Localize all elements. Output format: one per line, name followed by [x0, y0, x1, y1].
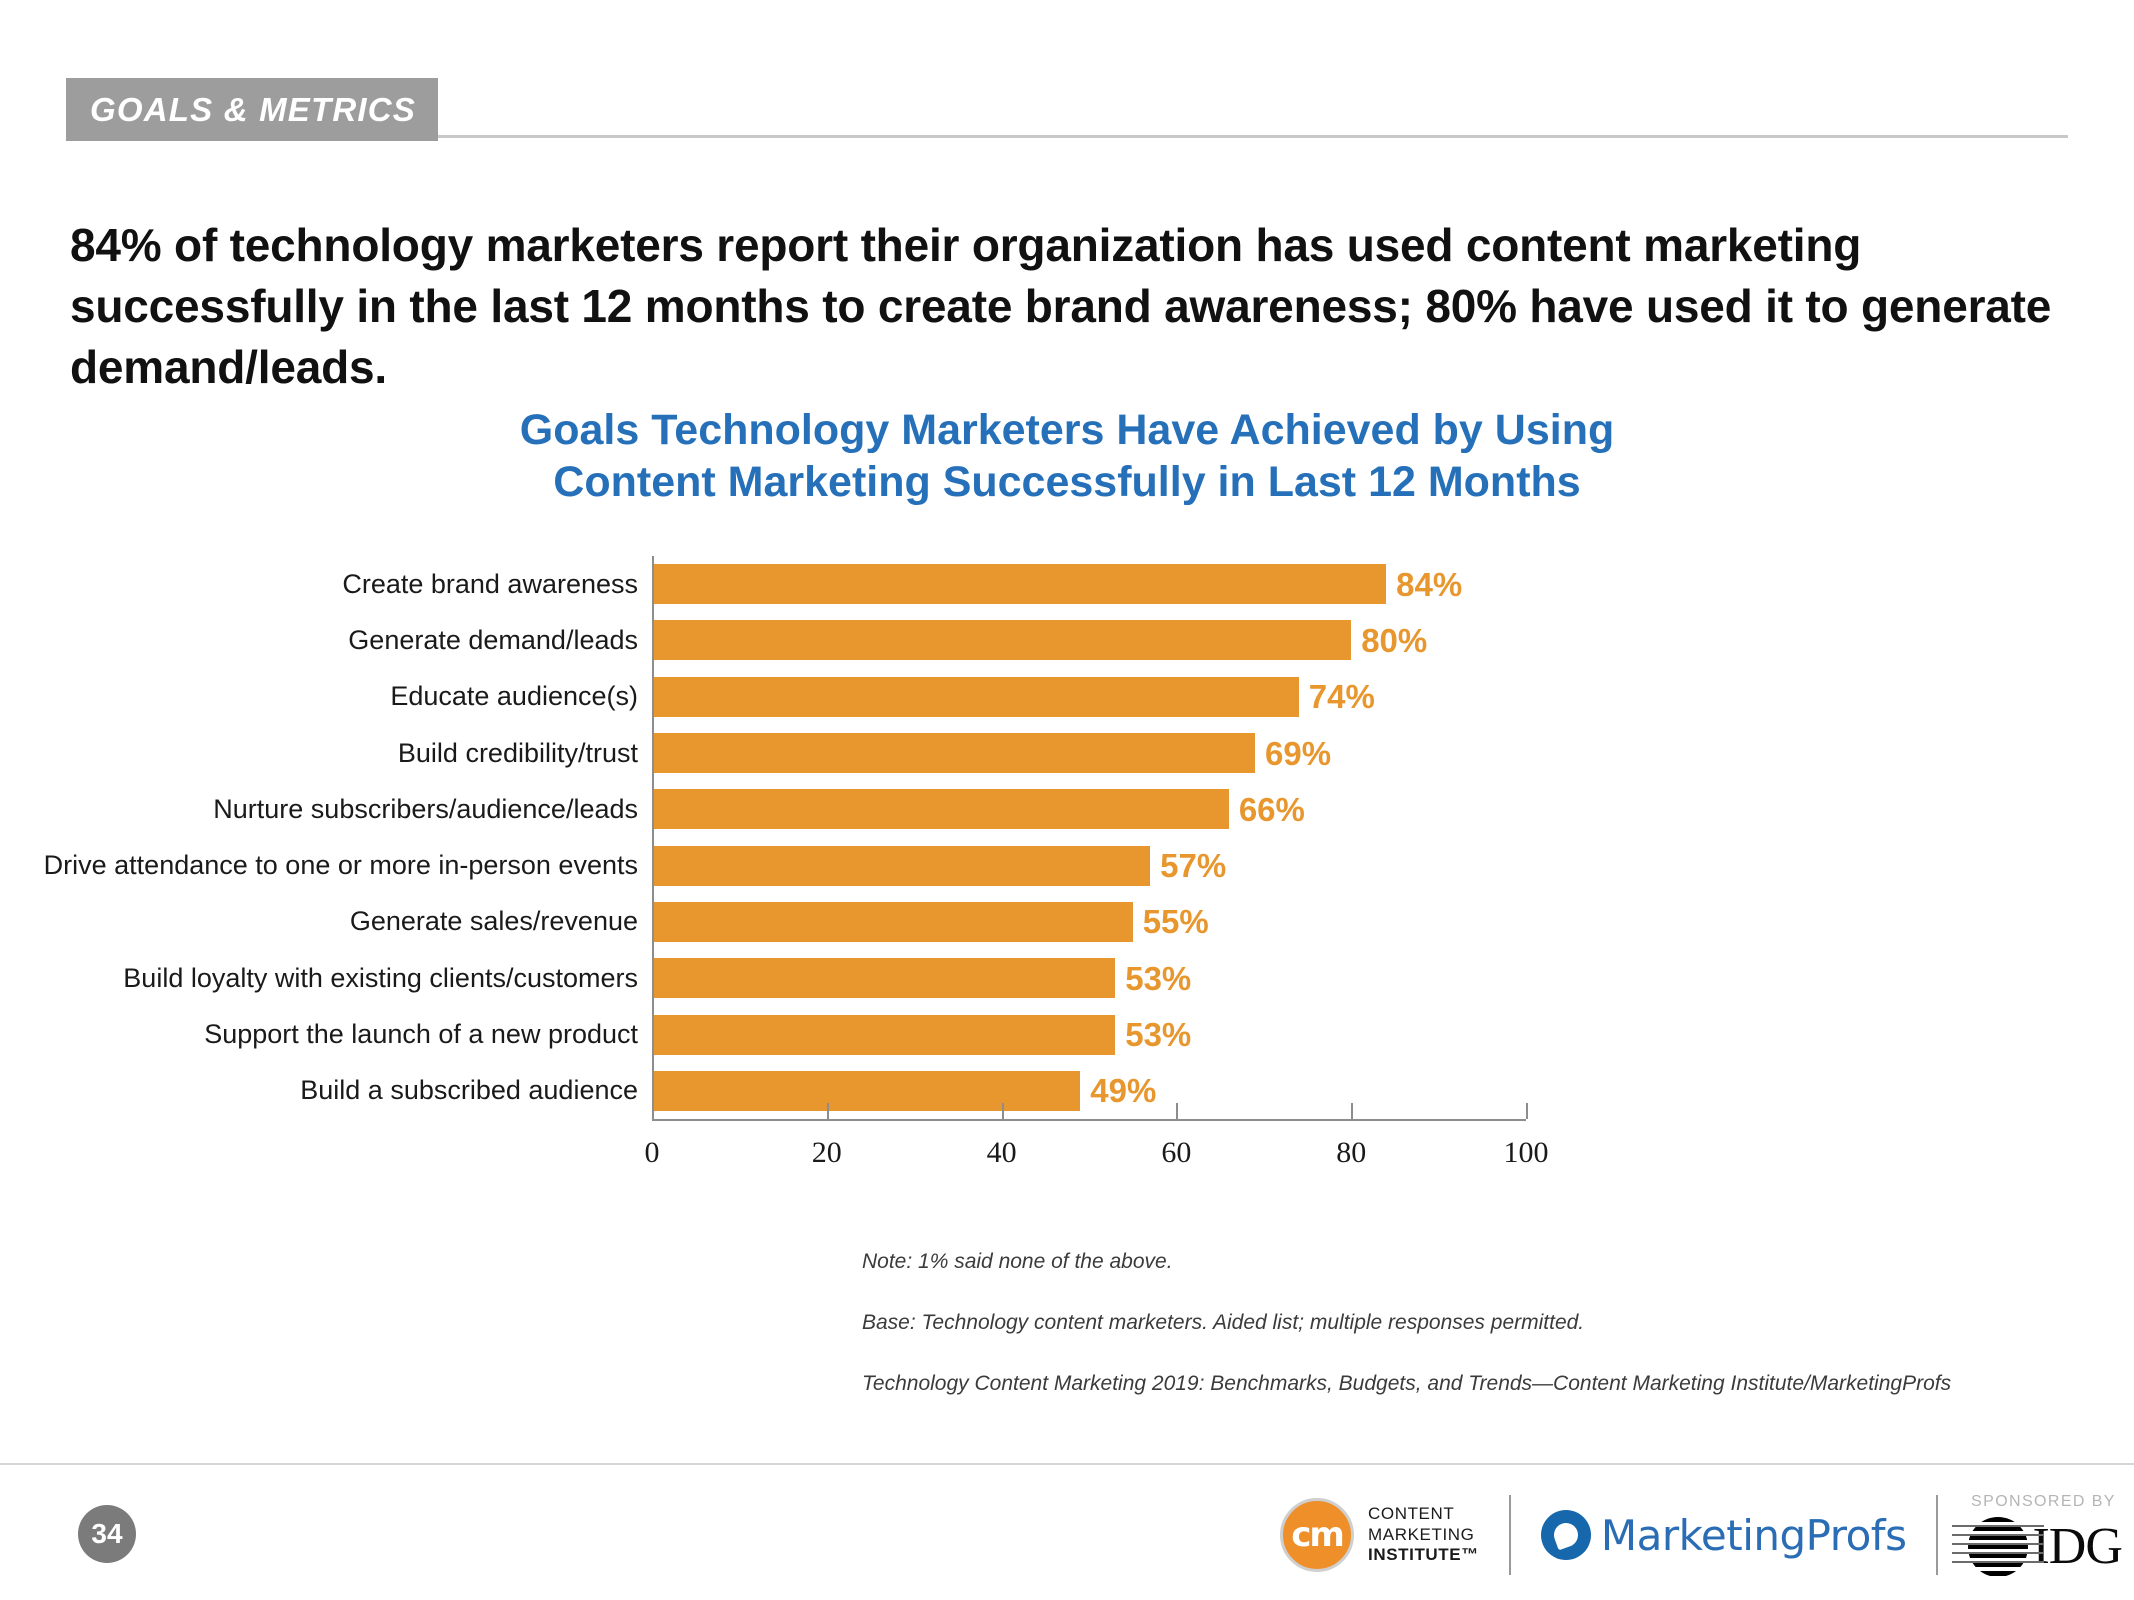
bar-chart-row: Nurture subscribers/audience/leads66%: [250, 781, 1750, 837]
idg-logo-row: IDG: [1968, 1517, 2121, 1577]
marketingprofs-logo-text: MarketingProfs: [1601, 1511, 1907, 1560]
bar: [652, 789, 1229, 829]
y-axis-line: [652, 556, 654, 1119]
bar-chart: Create brand awareness84%Generate demand…: [250, 556, 1750, 1196]
section-tag-label: GOALS & METRICS: [90, 91, 416, 129]
x-axis-tick: [1002, 1103, 1004, 1119]
bar-category-label: Build credibility/trust: [12, 740, 652, 767]
section-tag: GOALS & METRICS: [66, 78, 438, 141]
bar-chart-row: Educate audience(s)74%: [250, 669, 1750, 725]
bar: [652, 620, 1351, 660]
bar-value-label: 84%: [1396, 568, 1462, 601]
footnote: Base: Technology content marketers. Aide…: [862, 1311, 2062, 1334]
page-number-badge: 34: [78, 1505, 136, 1563]
bar: [652, 564, 1386, 604]
bar-category-label: Educate audience(s): [12, 683, 652, 710]
bar-chart-row: Build credibility/trust69%: [250, 725, 1750, 781]
x-axis-tick: [827, 1103, 829, 1119]
cmi-logo-text: CONTENT MARKETING INSTITUTE™: [1368, 1504, 1479, 1566]
bar-track: 74%: [652, 669, 1750, 725]
x-axis-tick-label: 40: [987, 1136, 1017, 1170]
bar: [652, 677, 1299, 717]
bar: [652, 733, 1255, 773]
logo-separator-1: [1509, 1495, 1511, 1575]
bar-category-label: Generate demand/leads: [12, 627, 652, 654]
chart-footnotes: Note: 1% said none of the above.Base: Te…: [862, 1250, 2062, 1395]
footnote: Note: 1% said none of the above.: [862, 1250, 2062, 1273]
bar: [652, 846, 1150, 886]
header-divider: [438, 135, 2068, 138]
bar-track: 53%: [652, 1006, 1750, 1062]
bar-value-label: 69%: [1265, 737, 1331, 770]
x-axis-tick: [1176, 1103, 1178, 1119]
bar-chart-row: Generate demand/leads80%: [250, 612, 1750, 668]
x-axis-tick-label: 80: [1336, 1136, 1366, 1170]
bar-chart-rows: Create brand awareness84%Generate demand…: [250, 556, 1750, 1119]
bar: [652, 902, 1133, 942]
bar-category-label: Build loyalty with existing clients/cust…: [12, 965, 652, 992]
x-axis-tick-label: 60: [1161, 1136, 1191, 1170]
bar-chart-row: Drive attendance to one or more in-perso…: [250, 837, 1750, 893]
bar-track: 57%: [652, 837, 1750, 893]
bar-track: 66%: [652, 781, 1750, 837]
x-axis-tick-label: 100: [1504, 1136, 1549, 1170]
bar-chart-row: Generate sales/revenue55%: [250, 894, 1750, 950]
cmi-logo-line-2: MARKETING: [1368, 1525, 1479, 1546]
bar-value-label: 74%: [1309, 680, 1375, 713]
bar-value-label: 66%: [1239, 793, 1305, 826]
page-title: 84% of technology marketers report their…: [70, 215, 2070, 399]
bar-value-label: 49%: [1090, 1074, 1156, 1107]
marketingprofs-bird-icon: [1541, 1510, 1591, 1560]
x-axis-tick: [1526, 1103, 1528, 1119]
bar-track: 49%: [652, 1063, 1750, 1119]
slide-root: GOALS & METRICS 84% of technology market…: [0, 0, 2134, 1600]
bar-value-label: 53%: [1125, 1018, 1191, 1051]
footer-logos: cm CONTENT MARKETING INSTITUTE™ Marketin…: [1280, 1480, 2122, 1590]
chart-title-line-2: Content Marketing Successfully in Last 1…: [0, 456, 2134, 508]
bar-chart-row: Support the launch of a new product53%: [250, 1006, 1750, 1062]
footnote: Technology Content Marketing 2019: Bench…: [862, 1372, 2062, 1395]
bar: [652, 1071, 1080, 1111]
bar-value-label: 53%: [1125, 962, 1191, 995]
bar-category-label: Nurture subscribers/audience/leads: [12, 796, 652, 823]
bar-category-label: Drive attendance to one or more in-perso…: [12, 852, 652, 879]
bar-category-label: Create brand awareness: [12, 571, 652, 598]
chart-title: Goals Technology Marketers Have Achieved…: [0, 404, 2134, 509]
x-axis-tick: [652, 1103, 654, 1119]
x-axis-line: [652, 1119, 1526, 1121]
idg-globe-icon: [1968, 1517, 2028, 1577]
footer-divider: [0, 1463, 2134, 1465]
marketingprofs-logo: MarketingProfs: [1541, 1510, 1907, 1560]
bar-chart-row: Create brand awareness84%: [250, 556, 1750, 612]
sponsored-by-label: SPONSORED BY: [1971, 1493, 2116, 1511]
x-axis-tick-label: 0: [645, 1136, 660, 1170]
bar-category-label: Generate sales/revenue: [12, 908, 652, 935]
cmi-mark-icon: cm: [1280, 1498, 1354, 1572]
idg-logo: SPONSORED BY IDG: [1968, 1493, 2121, 1577]
cmi-logo: cm CONTENT MARKETING INSTITUTE™: [1280, 1498, 1479, 1572]
bar-category-label: Support the launch of a new product: [12, 1021, 652, 1048]
idg-logo-text: IDG: [2032, 1521, 2121, 1573]
bar-category-label: Build a subscribed audience: [12, 1077, 652, 1104]
bar-value-label: 55%: [1143, 905, 1209, 938]
bar-value-label: 80%: [1361, 624, 1427, 657]
bar-track: 55%: [652, 894, 1750, 950]
bar-value-label: 57%: [1160, 849, 1226, 882]
bar-track: 69%: [652, 725, 1750, 781]
logo-separator-2: [1936, 1495, 1938, 1575]
bar-track: 84%: [652, 556, 1750, 612]
bar-track: 53%: [652, 950, 1750, 1006]
chart-title-line-1: Goals Technology Marketers Have Achieved…: [0, 404, 2134, 456]
cmi-logo-line-1: CONTENT: [1368, 1504, 1479, 1525]
x-axis-tick-label: 20: [812, 1136, 842, 1170]
bar-chart-row: Build loyalty with existing clients/cust…: [250, 950, 1750, 1006]
bar-chart-row: Build a subscribed audience49%: [250, 1063, 1750, 1119]
bar: [652, 1015, 1115, 1055]
x-axis-tick: [1351, 1103, 1353, 1119]
bar: [652, 958, 1115, 998]
cmi-logo-line-3: INSTITUTE™: [1368, 1545, 1479, 1566]
bar-track: 80%: [652, 612, 1750, 668]
